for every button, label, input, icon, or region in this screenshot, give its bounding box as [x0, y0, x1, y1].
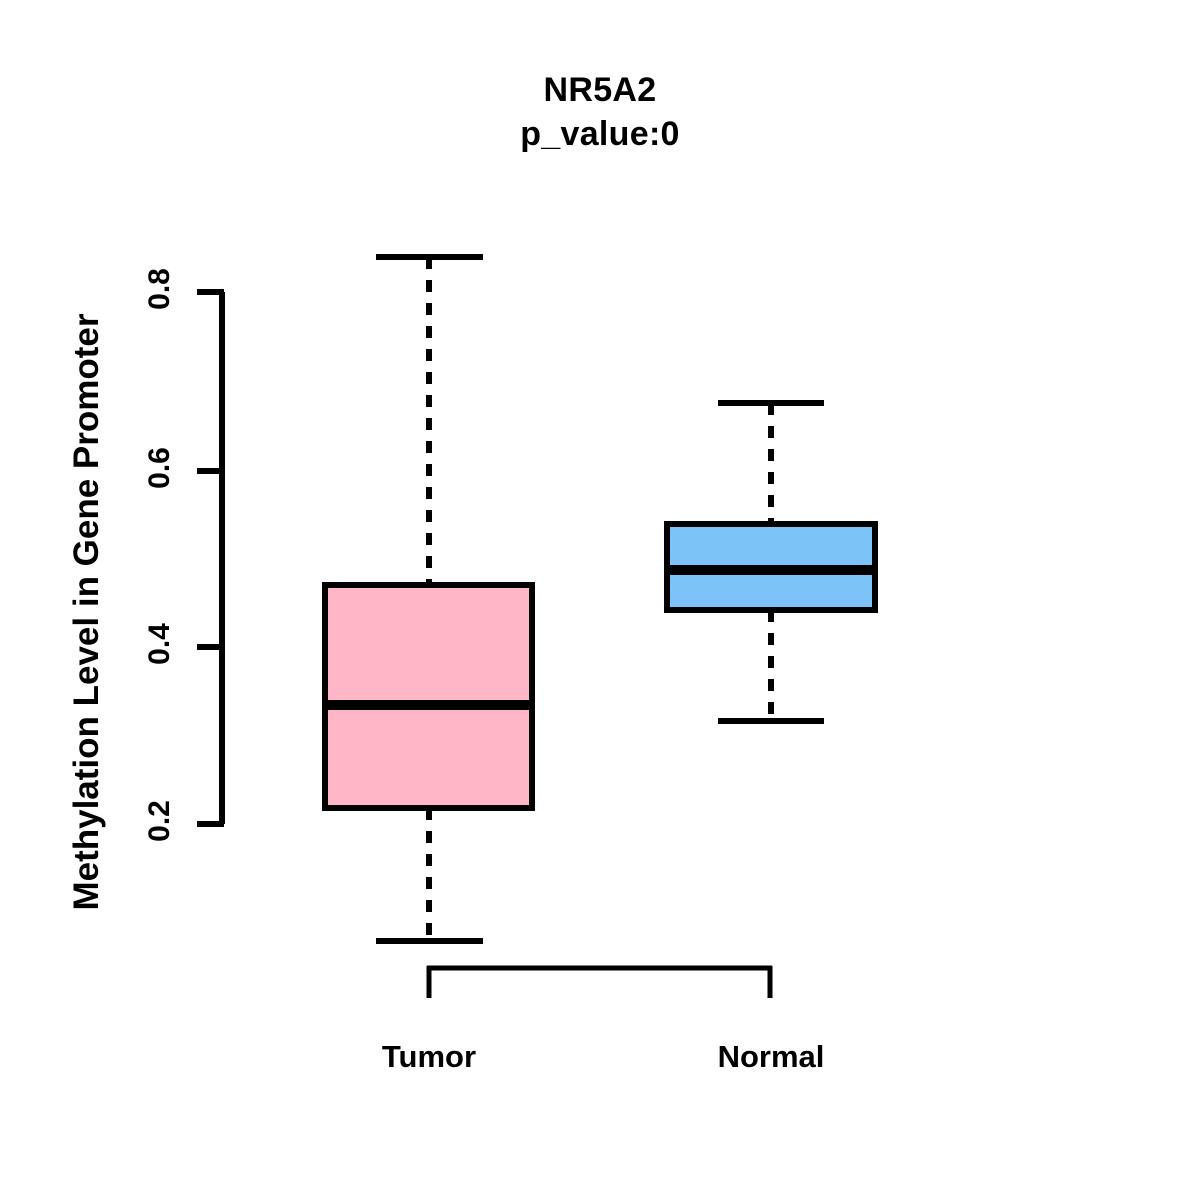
x-tick-label-tumor: Tumor [279, 1039, 579, 1075]
x-axis [427, 966, 772, 998]
box-normal [664, 403, 878, 721]
y-tick-label-0.8: 0.8 [143, 229, 177, 349]
box-body-tumor [325, 585, 532, 808]
y-tick-label-0.2: 0.2 [143, 761, 177, 881]
y-tick-label-0.6: 0.6 [143, 408, 177, 528]
boxplot-figure: NR5A2 p_value:0 Methylation Level in Gen… [0, 0, 1200, 1200]
y-tick-label-0.4: 0.4 [143, 584, 177, 704]
box-tumor [322, 257, 535, 941]
plot-canvas [0, 0, 1200, 1200]
x-tick-label-normal: Normal [621, 1039, 921, 1075]
y-axis [197, 292, 224, 824]
